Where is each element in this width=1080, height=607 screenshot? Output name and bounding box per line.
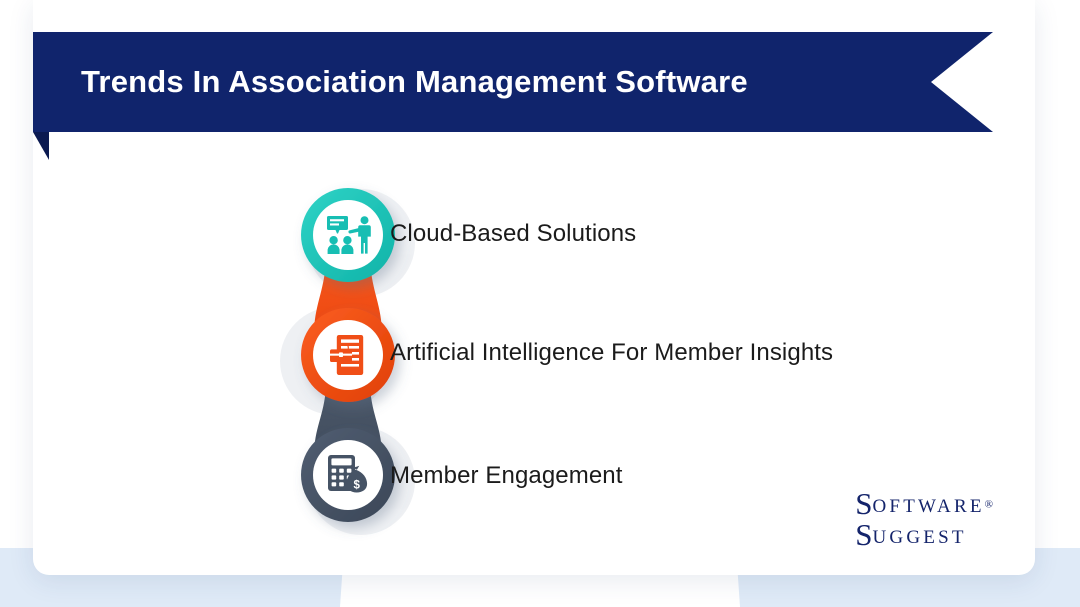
softwaresuggest-logo: Software® Suggest	[855, 489, 993, 549]
logo-s2: S	[855, 517, 872, 552]
registered-trademark-icon: ®	[985, 499, 993, 511]
svg-text:$: $	[353, 479, 360, 491]
timeline-node-1	[301, 188, 395, 282]
infographic-stage: Trends In Association Management Softwar…	[0, 0, 1080, 607]
timeline-label-2: Artificial Intelligence For Member Insig…	[390, 339, 833, 367]
logo-suggest-text: uggest	[873, 527, 967, 548]
timeline-label-3: Member Engagement	[390, 462, 623, 490]
content-card: Trends In Association Management Softwar…	[33, 0, 1035, 575]
logo-software-text: oftware	[873, 496, 985, 517]
timeline-label-1: Cloud-Based Solutions	[390, 220, 636, 248]
logo-line-2: Suggest	[855, 520, 993, 549]
logo-line-1: Software®	[855, 489, 993, 518]
